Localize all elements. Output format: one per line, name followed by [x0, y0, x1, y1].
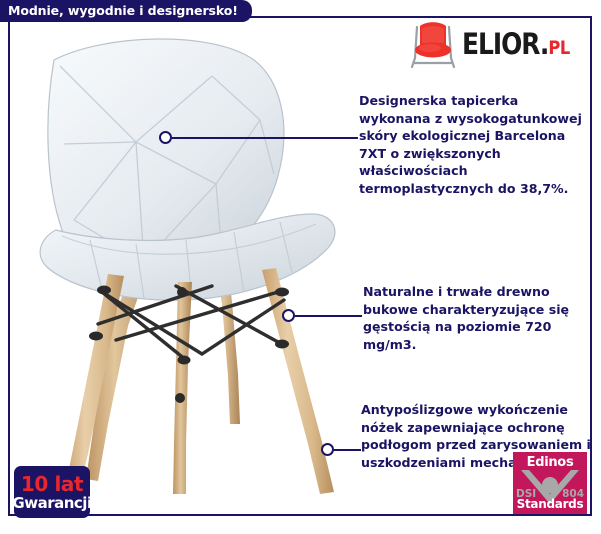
red-chair-icon: [410, 18, 456, 70]
feature-text-upholstery: Designerska tapicerka wykonana z wysokog…: [359, 92, 583, 198]
warranty-label: Gwarancji: [12, 496, 91, 511]
brand-dot: .: [540, 27, 548, 61]
brand-logo[interactable]: ELIOR.PL: [410, 18, 587, 70]
feature-text-wood: Naturalne i trwałe drewno bukowe charakt…: [363, 283, 587, 353]
product-infographic: Modnie, wygodnie i designersko! ELIOR.PL: [0, 0, 601, 534]
warranty-badge: 10 lat Gwarancji: [14, 466, 90, 518]
header-tagline-badge: Modnie, wygodnie i designersko!: [0, 0, 252, 22]
brand-wordmark: ELIOR.PL: [462, 30, 570, 59]
brand-name: ELIOR: [462, 27, 540, 61]
warranty-years: 10 lat: [21, 474, 83, 494]
product-image-chair: [16, 24, 356, 494]
brand-tld: PL: [548, 37, 569, 59]
edinos-standards-badge: Edinos DSI 804 Standards: [513, 452, 587, 514]
edinos-title: Edinos: [513, 455, 587, 470]
edinos-standards-label: Standards: [513, 497, 587, 511]
